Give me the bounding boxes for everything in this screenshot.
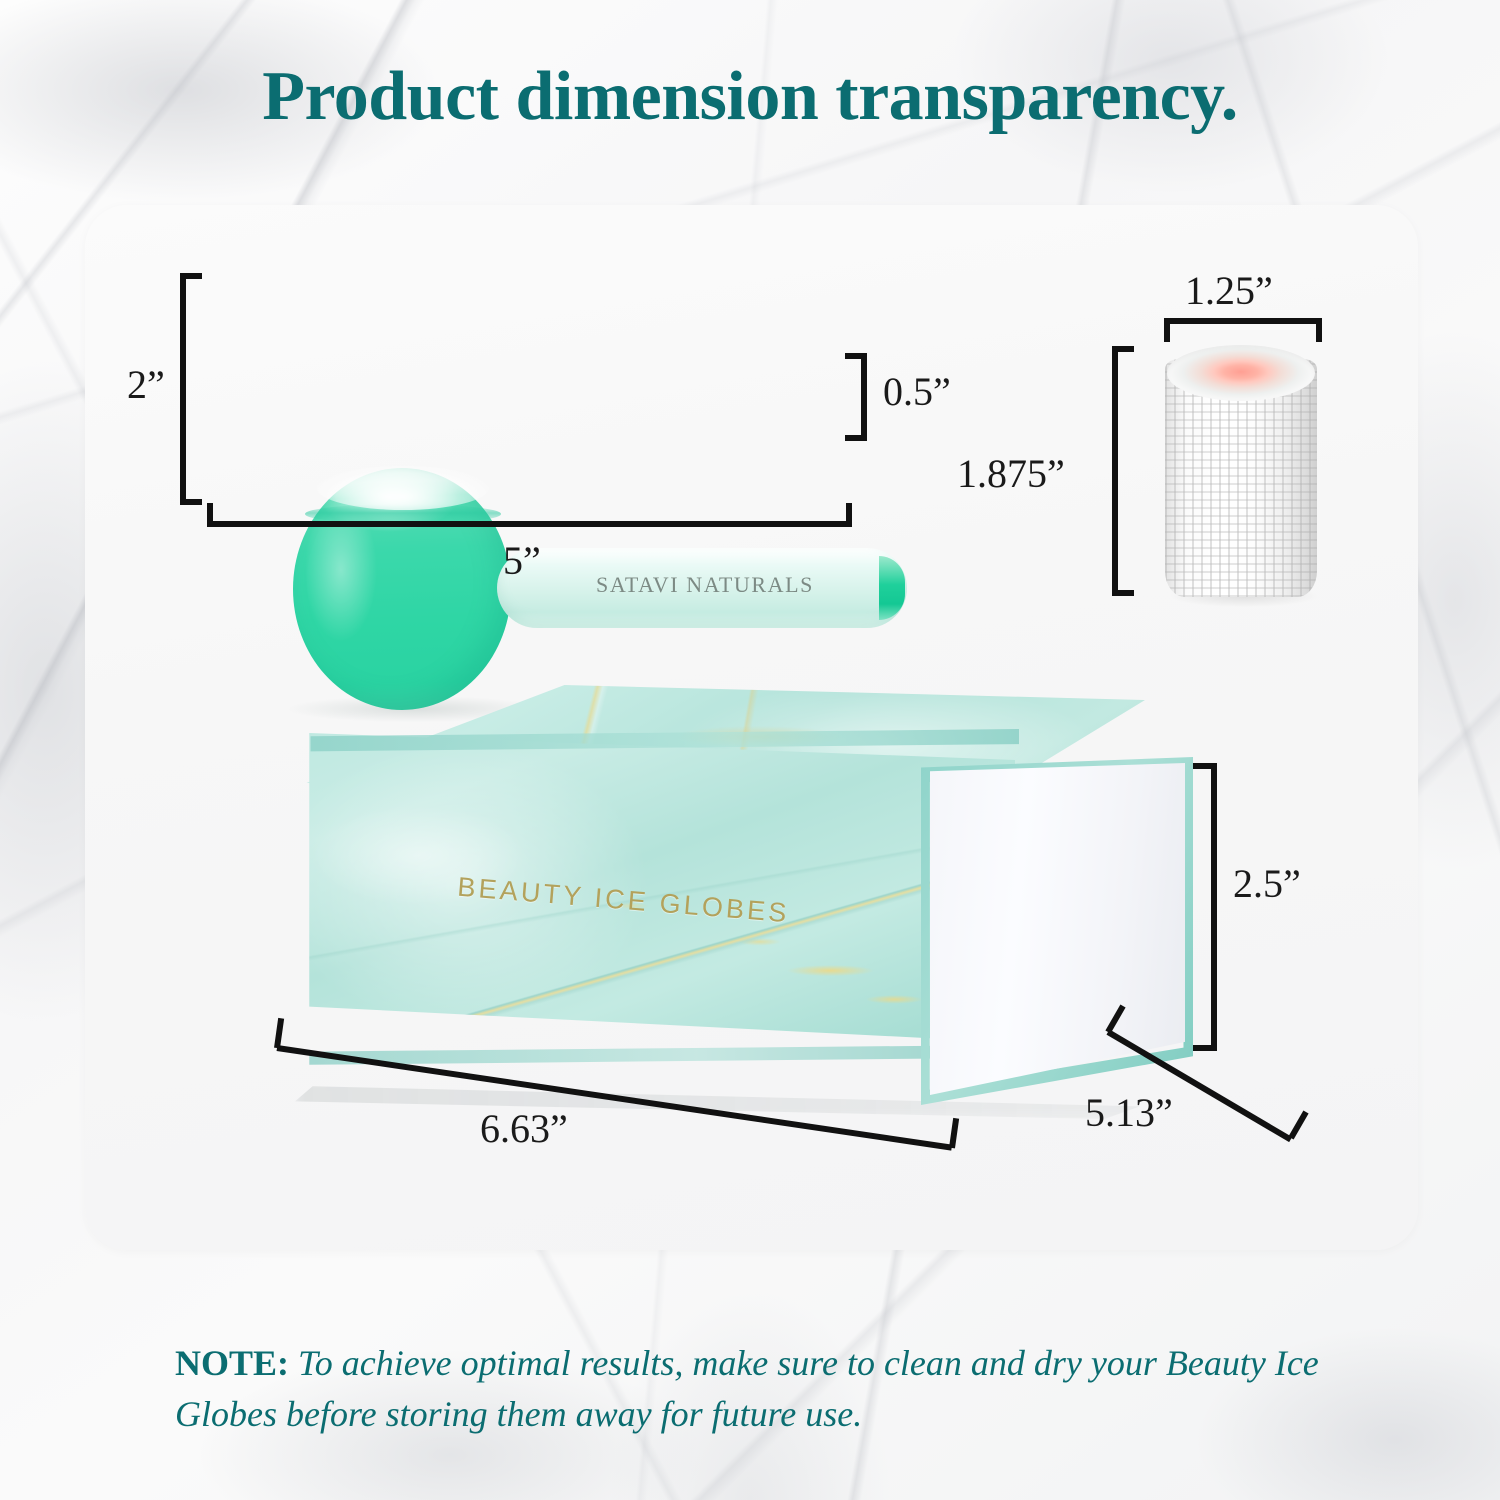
dimension-bracket-globe-height: [180, 273, 202, 505]
dimension-bracket-box-height: [1193, 763, 1217, 1051]
content-card: SATAVI NATURALS 2” 0.5” 5” 1.25”: [85, 205, 1418, 1250]
dimension-bracket-sleeve-height: [1112, 346, 1134, 596]
dimension-label-handle-diameter: 0.5”: [883, 368, 951, 415]
dimension-label-sleeve-height: 1.875”: [957, 450, 1065, 497]
dimension-bracket-globe-length: [207, 503, 852, 527]
dimension-bracket-handle-diameter: [845, 353, 867, 441]
note-body: To achieve optimal results, make sure to…: [175, 1343, 1319, 1434]
note-prefix: NOTE:: [175, 1343, 289, 1383]
dimension-label-box-depth: 5.13”: [1085, 1089, 1173, 1136]
gift-box-illustration: BEAUTY ICE GLOBES: [285, 685, 1215, 1145]
roller-inner-cavity: [1167, 345, 1315, 401]
note-text: NOTE: To achieve optimal results, make s…: [175, 1338, 1335, 1440]
box-side-panel: [930, 763, 1185, 1095]
dimension-tick-box-width-start: [274, 1018, 284, 1049]
dimension-label-sleeve-width: 1.25”: [1185, 267, 1273, 314]
dimension-label-box-width: 6.63”: [480, 1105, 568, 1152]
dimension-label-globe-height: 2”: [127, 361, 165, 408]
dimension-label-globe-length: 5”: [503, 537, 541, 584]
globe-brand-text: SATAVI NATURALS: [575, 572, 835, 598]
globe-handle-tip: [879, 556, 905, 620]
dimension-label-box-height: 2.5”: [1233, 860, 1301, 907]
dimension-bracket-sleeve-width: [1164, 318, 1322, 342]
roller-sleeve-illustration: [1165, 345, 1320, 600]
box-base-seam: [305, 1045, 1017, 1067]
dimension-tick-box-depth-end: [1288, 1111, 1308, 1140]
page-title: Product dimension transparency.: [0, 62, 1500, 132]
